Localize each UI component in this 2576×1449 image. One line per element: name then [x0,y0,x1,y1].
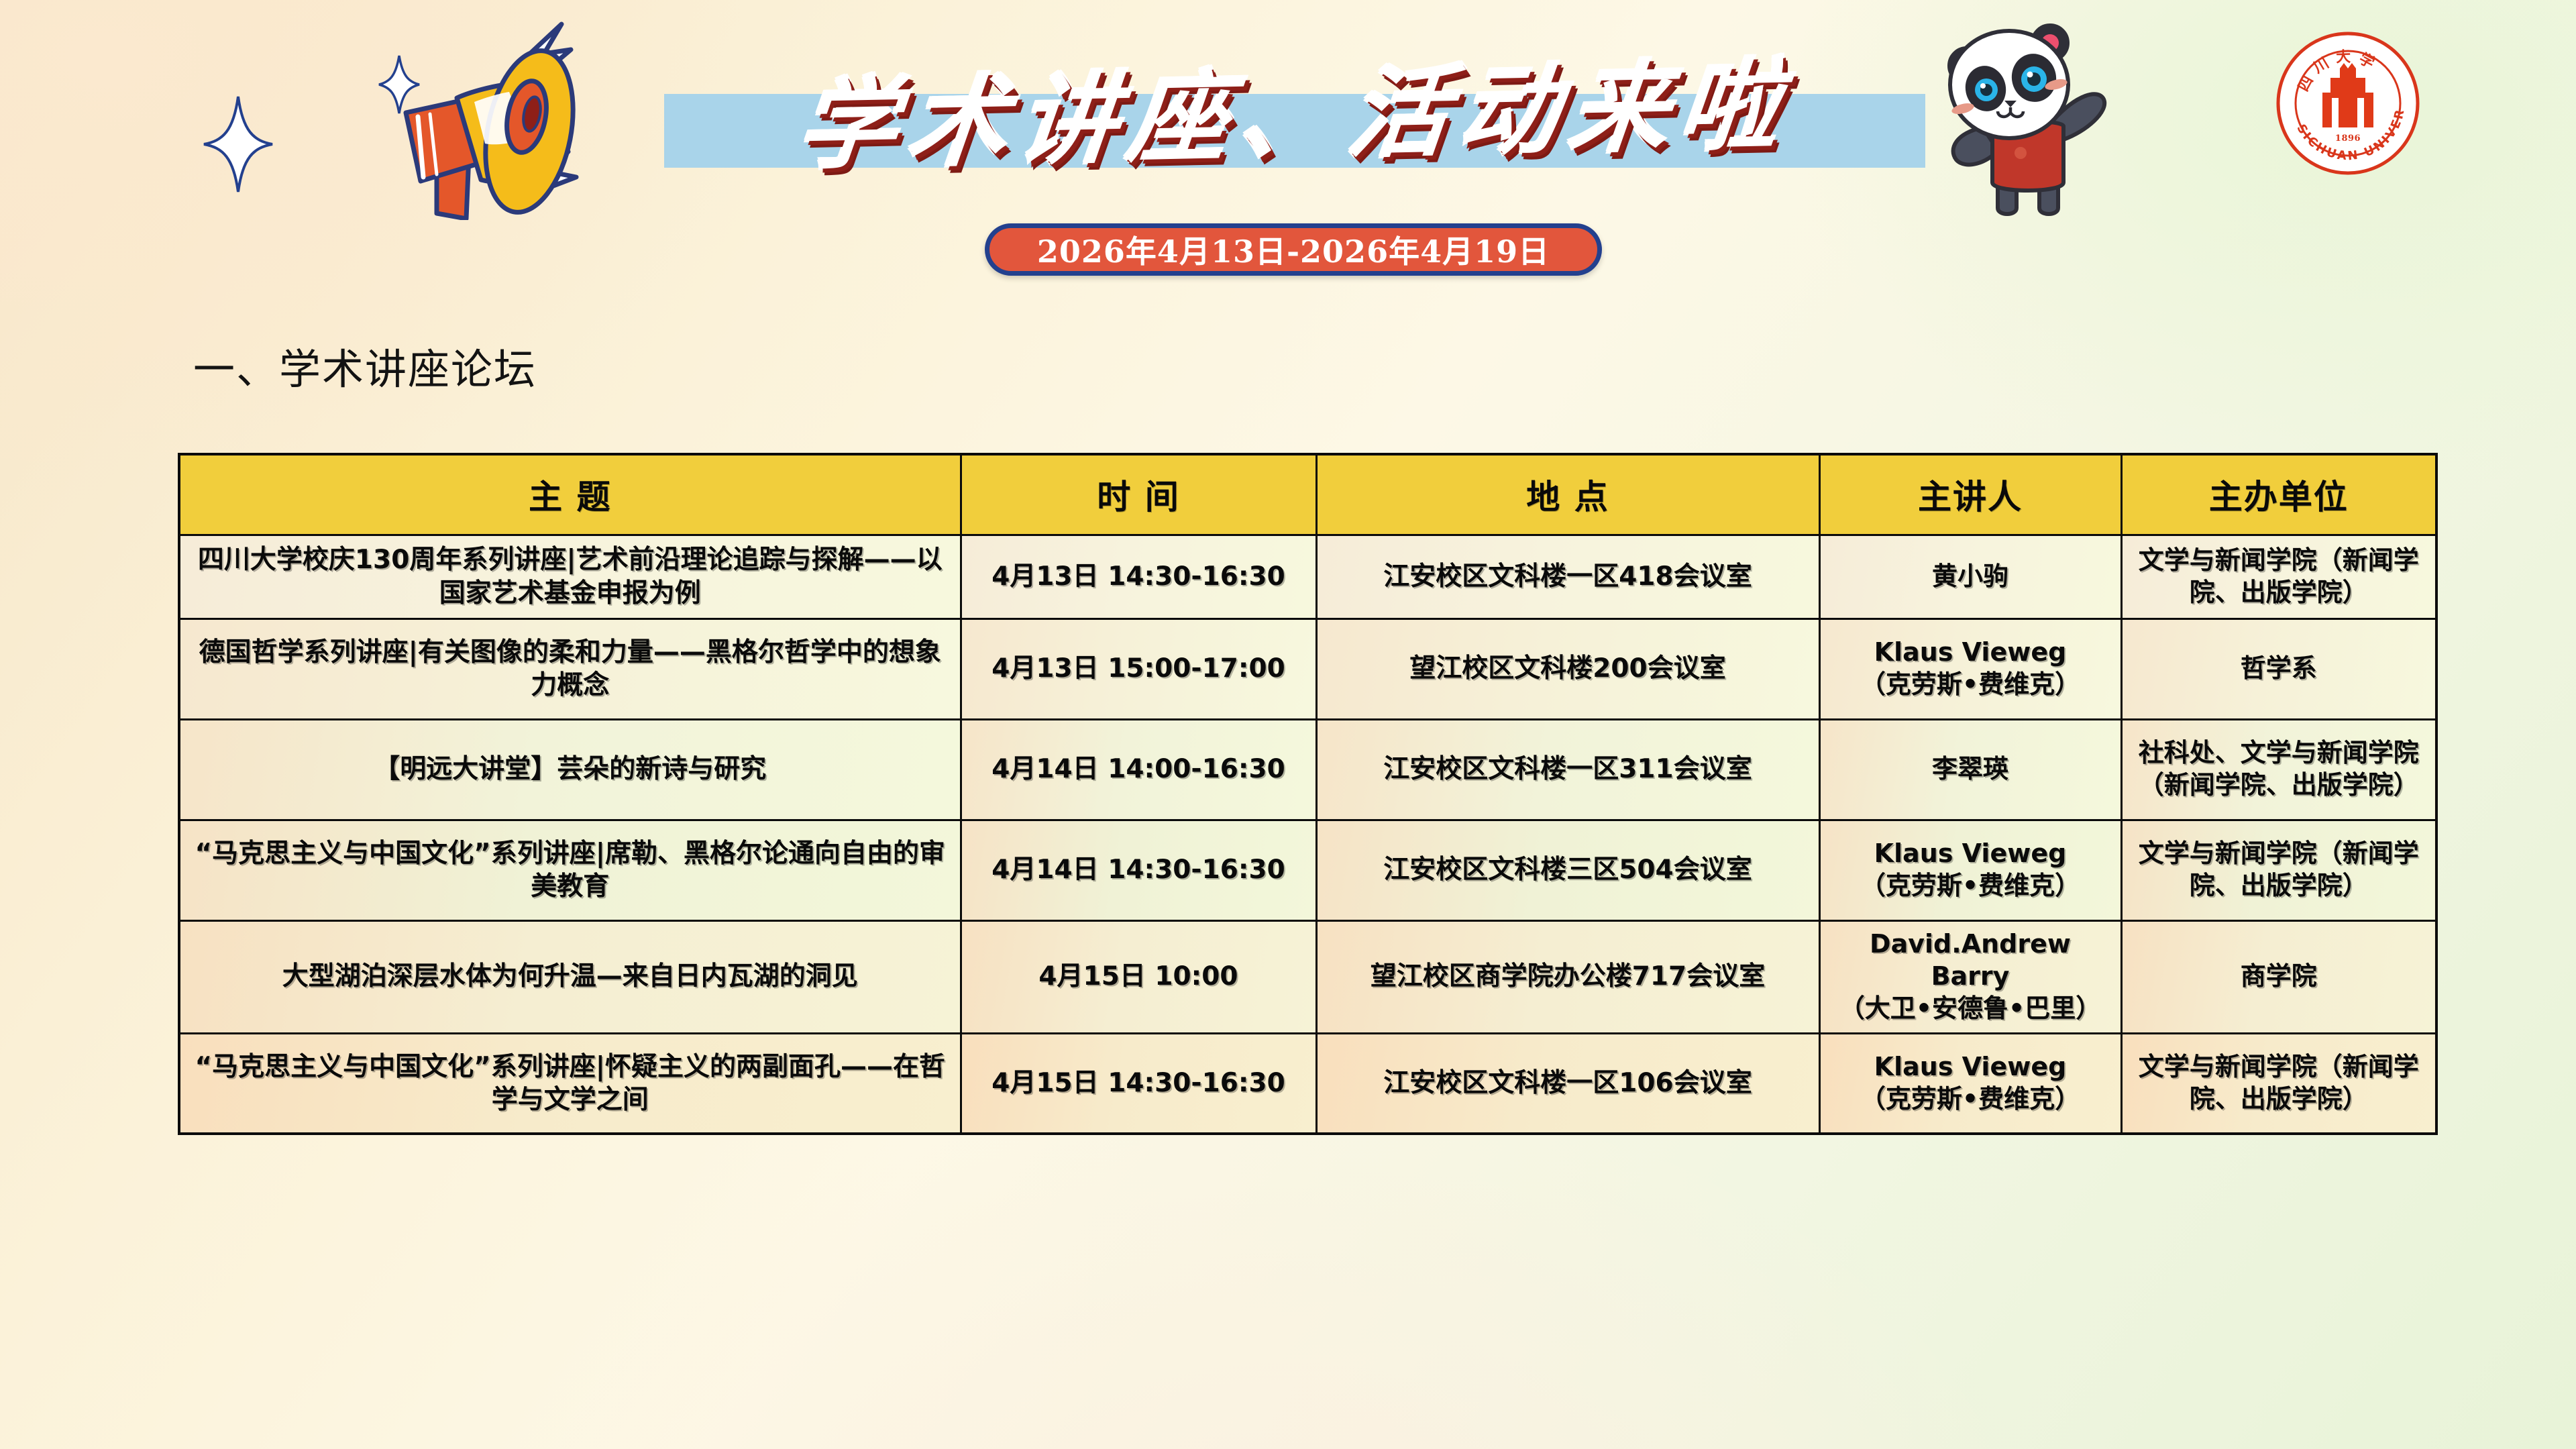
schedule-table-wrapper: 主 题 时 间 地 点 主讲人 主办单位 四川大学校庆130周年系列讲座|艺术前… [178,453,2435,1135]
cell-speaker: 黄小驹 [1819,535,2121,619]
speaker-name: Klaus Vieweg [1874,637,2067,667]
page-title: 学术讲座、活动来啦 [664,32,1925,180]
cell-speaker: 李翠瑛 [1819,719,2121,820]
column-header-time: 时 间 [961,454,1316,535]
table-row: “马克思主义与中国文化”系列讲座|怀疑主义的两副面孔——在哲学与文学之间 4月1… [179,1033,2436,1134]
table-row: 大型湖泊深层水体为何升温—来自日内瓦湖的洞见 4月15日 10:00 望江校区商… [179,920,2436,1033]
cell-topic: 德国哲学系列讲座|有关图像的柔和力量——黑格尔哲学中的想象力概念 [179,619,961,719]
cell-place: 江安校区文科楼一区311会议室 [1316,719,1819,820]
speaker-name: 黄小驹 [1932,561,2008,591]
cell-topic: “马克思主义与中国文化”系列讲座|席勒、黑格尔论通向自由的审美教育 [179,820,961,920]
table-row: 四川大学校庆130周年系列讲座|艺术前沿理论追踪与探解——以国家艺术基金申报为例… [179,535,2436,619]
speaker-name-cn: （克劳斯•费维克） [1831,669,2110,701]
table-row: “马克思主义与中国文化”系列讲座|席勒、黑格尔论通向自由的审美教育 4月14日 … [179,820,2436,920]
cell-org: 社科处、文学与新闻学院（新闻学院、出版学院） [2121,719,2436,820]
cell-org: 文学与新闻学院（新闻学院、出版学院） [2121,535,2436,619]
cell-speaker: David.Andrew Barry （大卫•安德鲁•巴里） [1819,920,2121,1033]
cell-place: 望江校区文科楼200会议室 [1316,619,1819,719]
table-row: 德国哲学系列讲座|有关图像的柔和力量——黑格尔哲学中的想象力概念 4月13日 1… [179,619,2436,719]
cell-time: 4月14日 14:30-16:30 [961,820,1316,920]
cell-time: 4月14日 14:00-16:30 [961,719,1316,820]
speaker-name: Klaus Vieweg [1874,1052,2067,1081]
speaker-name: David.Andrew Barry [1870,929,2071,991]
speaker-name: Klaus Vieweg [1874,839,2067,868]
sparkle-icon [201,94,275,195]
cell-place: 江安校区文科楼三区504会议室 [1316,820,1819,920]
cell-topic: 【明远大讲堂】芸朵的新诗与研究 [179,719,961,820]
cell-org: 商学院 [2121,920,2436,1033]
cell-org: 哲学系 [2121,619,2436,719]
sichuan-university-logo: 1896 四川大学 SICHUAN UNIVERSITY [2273,28,2423,181]
cell-place: 江安校区文科楼一区418会议室 [1316,535,1819,619]
cell-time: 4月15日 10:00 [961,920,1316,1033]
date-range-text: 2026年4月13日-2026年4月19日 [1037,227,1550,272]
speaker-name-cn: （大卫•安德鲁•巴里） [1831,993,2110,1025]
speaker-name-cn: （克劳斯•费维克） [1831,1083,2110,1116]
cell-speaker: Klaus Vieweg （克劳斯•费维克） [1819,619,2121,719]
date-range-badge: 2026年4月13日-2026年4月19日 [985,223,1602,276]
cell-speaker: Klaus Vieweg （克劳斯•费维克） [1819,820,2121,920]
cell-place: 望江校区商学院办公楼717会议室 [1316,920,1819,1033]
column-header-place: 地 点 [1316,454,1819,535]
page-header: 学术讲座、活动来啦 2026年4月13日-2026年4月19日 [0,0,2576,315]
cell-speaker: Klaus Vieweg （克劳斯•费维克） [1819,1033,2121,1134]
cell-place: 江安校区文科楼一区106会议室 [1316,1033,1819,1134]
cell-topic: 四川大学校庆130周年系列讲座|艺术前沿理论追踪与探解——以国家艺术基金申报为例 [179,535,961,619]
table-header-row: 主 题 时 间 地 点 主讲人 主办单位 [179,454,2436,535]
table-row: 【明远大讲堂】芸朵的新诗与研究 4月14日 14:00-16:30 江安校区文科… [179,719,2436,820]
column-header-speaker: 主讲人 [1819,454,2121,535]
megaphone-icon [305,12,587,223]
cell-topic: “马克思主义与中国文化”系列讲座|怀疑主义的两副面孔——在哲学与文学之间 [179,1033,961,1134]
panda-mascot-icon [1919,7,2140,224]
column-header-org: 主办单位 [2121,454,2436,535]
speaker-name-cn: （克劳斯•费维克） [1831,870,2110,902]
page-title-text: 学术讲座、活动来啦 [791,23,1798,189]
schedule-table: 主 题 时 间 地 点 主讲人 主办单位 四川大学校庆130周年系列讲座|艺术前… [178,453,2438,1135]
cell-time: 4月15日 14:30-16:30 [961,1033,1316,1134]
cell-time: 4月13日 15:00-17:00 [961,619,1316,719]
column-header-topic: 主 题 [179,454,961,535]
cell-org: 文学与新闻学院（新闻学院、出版学院） [2121,1033,2436,1134]
cell-topic: 大型湖泊深层水体为何升温—来自日内瓦湖的洞见 [179,920,961,1033]
section-heading: 一、学术讲座论坛 [193,335,537,396]
cell-org: 文学与新闻学院（新闻学院、出版学院） [2121,820,2436,920]
speaker-name: 李翠瑛 [1932,754,2008,784]
cell-time: 4月13日 14:30-16:30 [961,535,1316,619]
svg-text:1896: 1896 [2335,133,2361,144]
